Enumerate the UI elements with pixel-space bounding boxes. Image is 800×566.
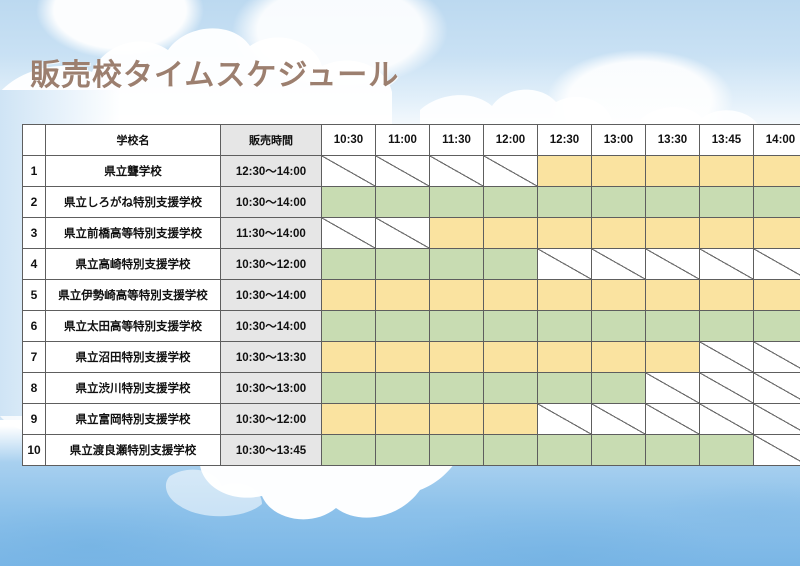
table-row: 10県立渡良瀬特別支援学校10:30～13:45 bbox=[23, 435, 800, 466]
table-body: 1県立聾学校12:30～14:002県立しろがね特別支援学校10:30～14:0… bbox=[23, 156, 800, 466]
cell-slot-available bbox=[322, 342, 376, 373]
table-row: 1県立聾学校12:30～14:00 bbox=[23, 156, 800, 187]
cell-slot-available bbox=[538, 342, 592, 373]
cell-slot-available bbox=[430, 218, 484, 249]
cell-slot-available bbox=[700, 311, 754, 342]
header-time-slot: 13:45 bbox=[700, 125, 754, 156]
cell-slot-available bbox=[484, 249, 538, 280]
cell-slot-available bbox=[376, 280, 430, 311]
cell-sales-time: 11:30～14:00 bbox=[221, 218, 322, 249]
cell-slot-available bbox=[484, 373, 538, 404]
cell-slot-unavailable bbox=[754, 249, 800, 280]
row-number: 6 bbox=[23, 311, 46, 342]
row-number: 5 bbox=[23, 280, 46, 311]
cell-slot-available bbox=[430, 404, 484, 435]
cell-slot-available bbox=[538, 156, 592, 187]
cell-sales-time: 10:30～13:45 bbox=[221, 435, 322, 466]
row-number: 4 bbox=[23, 249, 46, 280]
cell-slot-unavailable bbox=[754, 435, 800, 466]
cell-slot-available bbox=[592, 435, 646, 466]
cell-slot-available bbox=[322, 280, 376, 311]
row-number: 10 bbox=[23, 435, 46, 466]
table-row: 6県立太田高等特別支援学校10:30～14:00 bbox=[23, 311, 800, 342]
cell-slot-available bbox=[484, 280, 538, 311]
header-time-slot: 13:00 bbox=[592, 125, 646, 156]
cell-slot-available bbox=[700, 280, 754, 311]
cell-sales-time: 10:30～14:00 bbox=[221, 187, 322, 218]
cell-slot-available bbox=[592, 311, 646, 342]
rownum-header bbox=[23, 125, 46, 156]
cell-school-name: 県立渋川特別支援学校 bbox=[46, 373, 221, 404]
cell-slot-available bbox=[538, 280, 592, 311]
cell-slot-available bbox=[646, 280, 700, 311]
header-time-slot: 14:00 bbox=[754, 125, 800, 156]
cell-slot-available bbox=[322, 311, 376, 342]
cell-slot-unavailable bbox=[700, 373, 754, 404]
cell-slot-unavailable bbox=[592, 404, 646, 435]
cell-slot-unavailable bbox=[538, 249, 592, 280]
page-title: 販売校タイムスケジュール bbox=[30, 50, 399, 94]
cell-slot-available bbox=[646, 218, 700, 249]
row-number: 9 bbox=[23, 404, 46, 435]
row-number: 2 bbox=[23, 187, 46, 218]
cell-slot-available bbox=[430, 435, 484, 466]
row-number: 1 bbox=[23, 156, 46, 187]
cell-slot-available bbox=[754, 311, 800, 342]
cell-school-name: 県立聾学校 bbox=[46, 156, 221, 187]
cell-slot-available bbox=[754, 280, 800, 311]
cell-slot-available bbox=[322, 404, 376, 435]
cell-slot-available bbox=[430, 373, 484, 404]
cell-slot-available bbox=[484, 218, 538, 249]
cell-slot-available bbox=[592, 373, 646, 404]
cell-sales-time: 10:30～14:00 bbox=[221, 280, 322, 311]
cell-slot-available bbox=[754, 156, 800, 187]
cell-slot-available bbox=[592, 280, 646, 311]
cell-slot-available bbox=[700, 187, 754, 218]
cell-slot-unavailable bbox=[430, 156, 484, 187]
row-number: 8 bbox=[23, 373, 46, 404]
cell-slot-available bbox=[700, 218, 754, 249]
cell-slot-available bbox=[376, 342, 430, 373]
cell-slot-available bbox=[592, 187, 646, 218]
cell-slot-available bbox=[484, 435, 538, 466]
cell-slot-available bbox=[376, 249, 430, 280]
header-time-slot: 10:30 bbox=[322, 125, 376, 156]
cell-slot-available bbox=[376, 187, 430, 218]
cell-slot-unavailable bbox=[700, 404, 754, 435]
cell-school-name: 県立前橋高等特別支援学校 bbox=[46, 218, 221, 249]
table-row: 9県立富岡特別支援学校10:30～12:00 bbox=[23, 404, 800, 435]
cell-school-name: 県立富岡特別支援学校 bbox=[46, 404, 221, 435]
cell-slot-available bbox=[484, 187, 538, 218]
cell-slot-unavailable bbox=[754, 373, 800, 404]
cell-slot-available bbox=[646, 311, 700, 342]
cell-slot-available bbox=[430, 311, 484, 342]
cell-slot-available bbox=[322, 249, 376, 280]
schedule-table: 学校名 販売時間 10:3011:0011:3012:0012:3013:001… bbox=[22, 124, 800, 466]
cell-slot-available bbox=[538, 218, 592, 249]
cell-school-name: 県立しろがね特別支援学校 bbox=[46, 187, 221, 218]
cell-slot-available bbox=[376, 311, 430, 342]
cell-slot-available bbox=[430, 187, 484, 218]
table-row: 3県立前橋高等特別支援学校11:30～14:00 bbox=[23, 218, 800, 249]
cell-slot-available bbox=[484, 342, 538, 373]
cell-sales-time: 10:30～13:30 bbox=[221, 342, 322, 373]
header-time-slot: 12:30 bbox=[538, 125, 592, 156]
cell-slot-unavailable bbox=[538, 404, 592, 435]
table-row: 8県立渋川特別支援学校10:30～13:00 bbox=[23, 373, 800, 404]
cell-slot-unavailable bbox=[322, 218, 376, 249]
cell-slot-available bbox=[646, 156, 700, 187]
cell-slot-available bbox=[538, 187, 592, 218]
row-number: 7 bbox=[23, 342, 46, 373]
cell-slot-available bbox=[484, 311, 538, 342]
cell-sales-time: 10:30～14:00 bbox=[221, 311, 322, 342]
cell-slot-unavailable bbox=[700, 342, 754, 373]
cell-slot-unavailable bbox=[322, 156, 376, 187]
cell-slot-unavailable bbox=[700, 249, 754, 280]
header-time-slot: 11:00 bbox=[376, 125, 430, 156]
cell-slot-available bbox=[322, 373, 376, 404]
cell-slot-available bbox=[592, 342, 646, 373]
cell-sales-time: 10:30～12:00 bbox=[221, 249, 322, 280]
cell-slot-available bbox=[376, 373, 430, 404]
cell-slot-unavailable bbox=[592, 249, 646, 280]
table-row: 7県立沼田特別支援学校10:30～13:30 bbox=[23, 342, 800, 373]
cell-school-name: 県立渡良瀬特別支援学校 bbox=[46, 435, 221, 466]
cell-school-name: 県立伊勢崎高等特別支援学校 bbox=[46, 280, 221, 311]
header-school-name: 学校名 bbox=[46, 125, 221, 156]
cell-sales-time: 10:30～13:00 bbox=[221, 373, 322, 404]
cell-slot-available bbox=[538, 373, 592, 404]
cell-school-name: 県立高崎特別支援学校 bbox=[46, 249, 221, 280]
cell-sales-time: 12:30～14:00 bbox=[221, 156, 322, 187]
table-header-row: 学校名 販売時間 10:3011:0011:3012:0012:3013:001… bbox=[23, 125, 800, 156]
cell-slot-unavailable bbox=[754, 404, 800, 435]
cell-slot-unavailable bbox=[484, 156, 538, 187]
row-number: 3 bbox=[23, 218, 46, 249]
cell-slot-available bbox=[538, 311, 592, 342]
cell-slot-unavailable bbox=[646, 249, 700, 280]
header-time-slot: 13:30 bbox=[646, 125, 700, 156]
cell-slot-available bbox=[484, 404, 538, 435]
cell-slot-available bbox=[646, 187, 700, 218]
cell-slot-available bbox=[754, 187, 800, 218]
table-row: 5県立伊勢崎高等特別支援学校10:30～14:00 bbox=[23, 280, 800, 311]
cell-slot-available bbox=[592, 156, 646, 187]
table-row: 2県立しろがね特別支援学校10:30～14:00 bbox=[23, 187, 800, 218]
cell-slot-available bbox=[376, 435, 430, 466]
header-time-slot: 12:00 bbox=[484, 125, 538, 156]
cell-slot-available bbox=[700, 156, 754, 187]
table-row: 4県立高崎特別支援学校10:30～12:00 bbox=[23, 249, 800, 280]
cell-slot-unavailable bbox=[376, 218, 430, 249]
header-time-slot: 11:30 bbox=[430, 125, 484, 156]
cell-slot-available bbox=[754, 218, 800, 249]
cell-school-name: 県立沼田特別支援学校 bbox=[46, 342, 221, 373]
cell-slot-unavailable bbox=[646, 373, 700, 404]
cell-slot-available bbox=[538, 435, 592, 466]
cell-slot-available bbox=[700, 435, 754, 466]
cell-slot-unavailable bbox=[754, 342, 800, 373]
header-sales-time: 販売時間 bbox=[221, 125, 322, 156]
cell-slot-available bbox=[646, 435, 700, 466]
cell-school-name: 県立太田高等特別支援学校 bbox=[46, 311, 221, 342]
cell-slot-available bbox=[322, 435, 376, 466]
cell-slot-available bbox=[592, 218, 646, 249]
cell-slot-unavailable bbox=[376, 156, 430, 187]
cell-slot-available bbox=[430, 280, 484, 311]
cell-slot-available bbox=[646, 342, 700, 373]
cell-slot-available bbox=[376, 404, 430, 435]
cell-slot-available bbox=[322, 187, 376, 218]
cell-slot-available bbox=[430, 249, 484, 280]
cell-slot-available bbox=[430, 342, 484, 373]
cell-slot-unavailable bbox=[646, 404, 700, 435]
cell-sales-time: 10:30～12:00 bbox=[221, 404, 322, 435]
schedule-table-container: 学校名 販売時間 10:3011:0011:3012:0012:3013:001… bbox=[22, 124, 776, 466]
